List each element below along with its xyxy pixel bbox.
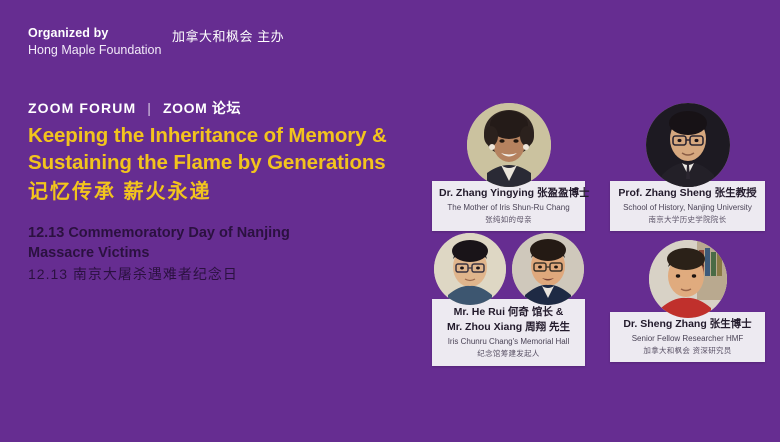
- speaker-card-sheng-zhang: Dr. Sheng Zhang 张生博士 Senior Fellow Resea…: [610, 240, 765, 362]
- speaker-role: Senior Fellow Researcher HMF: [617, 334, 758, 344]
- commemoration-title-chinese: 12.13 南京大屠杀遇难者纪念日: [28, 264, 238, 284]
- speaker-photos: [467, 103, 551, 187]
- commemoration-title: 12.13 Commemoratory Day of Nanjing Massa…: [28, 224, 358, 263]
- speaker-photos: [646, 103, 730, 187]
- speaker-role-chinese: 南京大学历史学院院长: [617, 215, 758, 225]
- organizer-label: Organized by: [28, 25, 161, 42]
- speaker-photos: [649, 240, 727, 318]
- speaker-photos: [434, 233, 584, 305]
- avatar: [646, 103, 730, 187]
- avatar: [434, 233, 506, 305]
- organizer-block: Organized by Hong Maple Foundation: [28, 25, 161, 59]
- speaker-name-second: Mr. Zhou Xiang 周翔 先生: [439, 321, 578, 335]
- speaker-role-chinese: 张纯如的母亲: [439, 215, 578, 225]
- avatar: [512, 233, 584, 305]
- speaker-name: Prof. Zhang Sheng 张生教授: [617, 187, 758, 201]
- speaker-card-zhang-sheng: Prof. Zhang Sheng 张生教授 School of History…: [610, 103, 765, 231]
- organizer-chinese: 加拿大和枫会 主办: [172, 26, 284, 45]
- speaker-name: Dr. Sheng Zhang 张生博士: [617, 318, 758, 332]
- kicker-en: ZOOM FORUM: [28, 100, 136, 116]
- kicker-cn: ZOOM 论坛: [163, 98, 241, 118]
- avatar: [467, 103, 551, 187]
- speaker-card-he-rui-zhou-xiang: Mr. He Rui 何奇 馆长 & Mr. Zhou Xiang 周翔 先生 …: [432, 233, 585, 366]
- speaker-role: The Mother of Iris Shun-Ru Chang: [439, 203, 578, 213]
- speaker-label: Dr. Zhang Yingying 张盈盈博士 The Mother of I…: [432, 181, 585, 231]
- page-title: Keeping the Inheritance of Memory & Sust…: [28, 122, 448, 177]
- speaker-name: Mr. He Rui 何奇 馆长 &: [439, 306, 578, 320]
- event-poster: Organized by Hong Maple Foundation 加拿大和枫…: [0, 0, 780, 442]
- page-title-chinese: 记忆传承 薪火永递: [28, 175, 212, 204]
- organizer-name: Hong Maple Foundation: [28, 42, 161, 59]
- speaker-label: Prof. Zhang Sheng 张生教授 School of History…: [610, 181, 765, 231]
- forum-kicker: ZOOM FORUM | ZOOM 论坛: [28, 98, 241, 118]
- speaker-name: Dr. Zhang Yingying 张盈盈博士: [439, 187, 578, 201]
- speaker-role: School of History, Nanjing University: [617, 203, 758, 213]
- avatar: [649, 240, 727, 318]
- event-info-row: Toronto Event Meeting ID: 886 5638 9779 …: [0, 352, 780, 442]
- speaker-role: Iris Chunru Chang's Memorial Hall: [439, 337, 578, 347]
- kicker-separator: |: [147, 100, 152, 116]
- speaker-card-zhang-yingying: Dr. Zhang Yingying 张盈盈博士 The Mother of I…: [432, 103, 585, 231]
